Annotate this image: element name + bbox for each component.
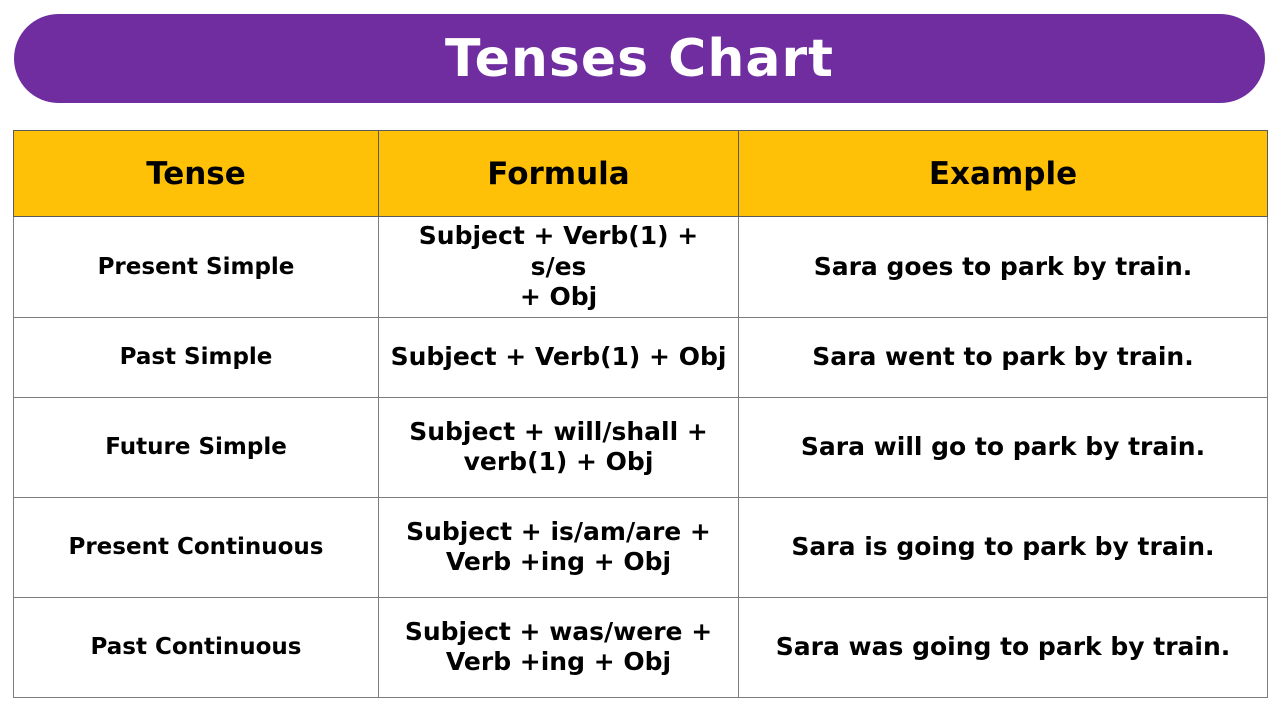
cell-example: Sara is going to park by train. — [739, 497, 1268, 597]
cell-tense: Present Continuous — [14, 497, 379, 597]
table-row: Future Simple Subject + will/shall + ver… — [14, 397, 1268, 497]
cell-example: Sara was going to park by train. — [739, 597, 1268, 697]
cell-tense: Past Continuous — [14, 597, 379, 697]
cell-formula: Subject + Verb(1) + s/es + Obj — [379, 217, 739, 318]
cell-example: Sara went to park by train. — [739, 317, 1268, 397]
formula-line-1: Subject + is/am/are + — [387, 517, 730, 548]
formula-line-1: Subject + Verb(1) + s/es — [387, 221, 730, 282]
formula-line-2: + Obj — [387, 282, 730, 313]
formula-line-1: Subject + Verb(1) + Obj — [387, 342, 730, 373]
column-header-formula: Formula — [379, 131, 739, 217]
page-title-banner: Tenses Chart — [14, 14, 1265, 103]
cell-example: Sara goes to park by train. — [739, 217, 1268, 318]
table-row: Past Simple Subject + Verb(1) + Obj Sara… — [14, 317, 1268, 397]
formula-line-1: Subject + was/were + — [387, 617, 730, 648]
table-row: Present Simple Subject + Verb(1) + s/es … — [14, 217, 1268, 318]
cell-formula: Subject + is/am/are + Verb +ing + Obj — [379, 497, 739, 597]
cell-tense: Present Simple — [14, 217, 379, 318]
table-header-row: Tense Formula Example — [14, 131, 1268, 217]
column-header-tense: Tense — [14, 131, 379, 217]
table-row: Present Continuous Subject + is/am/are +… — [14, 497, 1268, 597]
cell-formula: Subject + will/shall + verb(1) + Obj — [379, 397, 739, 497]
table-row: Past Continuous Subject + was/were + Ver… — [14, 597, 1268, 697]
table-header: Tense Formula Example — [14, 131, 1268, 217]
formula-line-2: verb(1) + Obj — [387, 447, 730, 478]
table-body: Present Simple Subject + Verb(1) + s/es … — [14, 217, 1268, 698]
formula-line-1: Subject + will/shall + — [387, 417, 730, 448]
tenses-chart-page: Tenses Chart Tense Formula Example Prese… — [0, 0, 1280, 720]
formula-line-2: Verb +ing + Obj — [387, 647, 730, 678]
cell-formula: Subject + was/were + Verb +ing + Obj — [379, 597, 739, 697]
column-header-example: Example — [739, 131, 1268, 217]
tenses-table: Tense Formula Example Present Simple Sub… — [13, 130, 1268, 698]
cell-tense: Future Simple — [14, 397, 379, 497]
page-title: Tenses Chart — [445, 33, 834, 85]
formula-line-2: Verb +ing + Obj — [387, 547, 730, 578]
cell-tense: Past Simple — [14, 317, 379, 397]
cell-formula: Subject + Verb(1) + Obj — [379, 317, 739, 397]
cell-example: Sara will go to park by train. — [739, 397, 1268, 497]
